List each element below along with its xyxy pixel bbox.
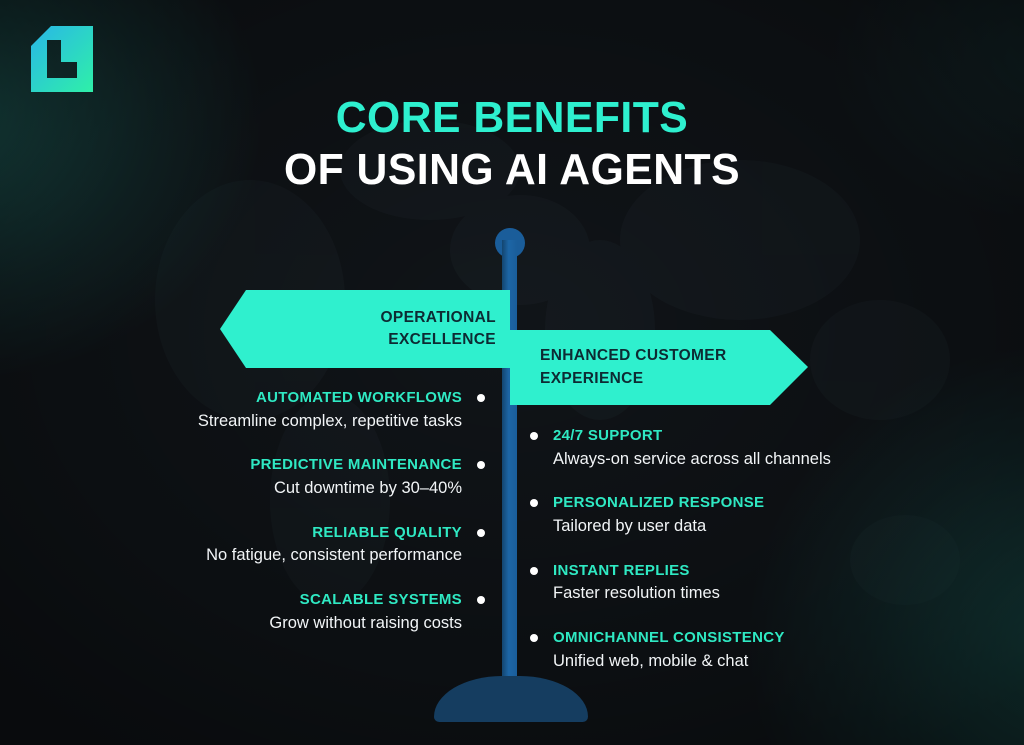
list-item-desc: No fatigue, consistent performance xyxy=(206,544,462,568)
sign-right-label-line1: ENHANCED CUSTOMER xyxy=(540,345,727,367)
title-line-1: CORE BENEFITS xyxy=(15,92,1008,144)
bullet-dot-icon xyxy=(477,461,485,469)
list-item: PREDICTIVE MAINTENANCE Cut downtime by 3… xyxy=(120,455,485,500)
list-item-desc: Tailored by user data xyxy=(553,515,764,539)
list-item: INSTANT REPLIES Faster resolution times xyxy=(530,561,930,606)
page-title: CORE BENEFITS OF USING AI AGENTS xyxy=(0,92,1024,196)
benefits-list-left: AUTOMATED WORKFLOWS Streamline complex, … xyxy=(120,388,485,658)
bullet-dot-icon xyxy=(477,394,485,402)
bullet-dot-icon xyxy=(530,634,538,642)
list-item: 24/7 SUPPORT Always-on service across al… xyxy=(530,426,930,471)
list-item-title: AUTOMATED WORKFLOWS xyxy=(198,388,462,408)
bullet-dot-icon xyxy=(477,596,485,604)
list-item: OMNICHANNEL CONSISTENCY Unified web, mob… xyxy=(530,628,930,673)
list-item-text: INSTANT REPLIES Faster resolution times xyxy=(553,561,720,606)
benefits-list-right: 24/7 SUPPORT Always-on service across al… xyxy=(530,426,930,696)
list-item-desc: Cut downtime by 30–40% xyxy=(250,477,462,501)
list-item-title: 24/7 SUPPORT xyxy=(553,426,831,446)
list-item-desc: Always-on service across all channels xyxy=(553,448,831,472)
list-item-text: AUTOMATED WORKFLOWS Streamline complex, … xyxy=(198,388,462,433)
list-item-text: OMNICHANNEL CONSISTENCY Unified web, mob… xyxy=(553,628,785,673)
sign-left-label: OPERATIONAL EXCELLENCE xyxy=(380,307,496,352)
list-item-title: PERSONALIZED RESPONSE xyxy=(553,493,764,513)
list-item-text: 24/7 SUPPORT Always-on service across al… xyxy=(553,426,831,471)
bullet-dot-icon xyxy=(530,567,538,575)
bullet-dot-icon xyxy=(530,432,538,440)
list-item: SCALABLE SYSTEMS Grow without raising co… xyxy=(120,590,485,635)
sign-right-label: ENHANCED CUSTOMER EXPERIENCE xyxy=(540,345,727,390)
sign-enhanced-customer-experience[interactable]: ENHANCED CUSTOMER EXPERIENCE xyxy=(510,330,808,405)
list-item-title: SCALABLE SYSTEMS xyxy=(269,590,462,610)
list-item: PERSONALIZED RESPONSE Tailored by user d… xyxy=(530,493,930,538)
list-item-text: PERSONALIZED RESPONSE Tailored by user d… xyxy=(553,493,764,538)
list-item: RELIABLE QUALITY No fatigue, consistent … xyxy=(120,523,485,568)
brand-logo-icon xyxy=(31,26,93,92)
list-item-title: RELIABLE QUALITY xyxy=(206,523,462,543)
infographic-canvas: CORE BENEFITS OF USING AI AGENTS OPERATI… xyxy=(0,0,1024,745)
sign-operational-excellence[interactable]: OPERATIONAL EXCELLENCE xyxy=(220,290,510,368)
list-item: AUTOMATED WORKFLOWS Streamline complex, … xyxy=(120,388,485,433)
sign-left-label-line1: OPERATIONAL xyxy=(380,307,496,329)
list-item-text: SCALABLE SYSTEMS Grow without raising co… xyxy=(269,590,462,635)
list-item-title: PREDICTIVE MAINTENANCE xyxy=(250,455,462,475)
list-item-desc: Grow without raising costs xyxy=(269,612,462,636)
sign-left-label-line2: EXCELLENCE xyxy=(380,329,496,351)
list-item-text: RELIABLE QUALITY No fatigue, consistent … xyxy=(206,523,462,568)
list-item-text: PREDICTIVE MAINTENANCE Cut downtime by 3… xyxy=(250,455,462,500)
sign-right-label-line2: EXPERIENCE xyxy=(540,368,727,390)
bullet-dot-icon xyxy=(477,529,485,537)
list-item-title: INSTANT REPLIES xyxy=(553,561,720,581)
title-line-2: OF USING AI AGENTS xyxy=(15,144,1008,196)
list-item-desc: Faster resolution times xyxy=(553,582,720,606)
list-item-desc: Unified web, mobile & chat xyxy=(553,650,785,674)
list-item-desc: Streamline complex, repetitive tasks xyxy=(198,410,462,434)
list-item-title: OMNICHANNEL CONSISTENCY xyxy=(553,628,785,648)
bullet-dot-icon xyxy=(530,499,538,507)
